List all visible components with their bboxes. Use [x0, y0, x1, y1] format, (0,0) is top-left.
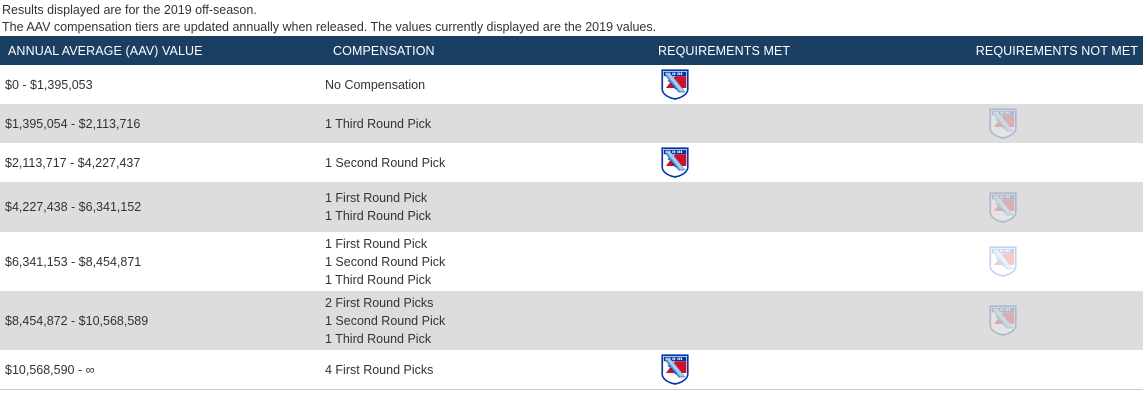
table-body: $0 - $1,395,053No Compensation$1,395,054…: [0, 65, 1143, 389]
rangers-shield-logo: [989, 192, 1017, 223]
cell-requirements-met: [645, 232, 965, 291]
compensation-pick-line: 1 First Round Pick: [325, 189, 637, 207]
table-row: $10,568,590 - ∞4 First Round Picks: [0, 350, 1143, 389]
rangers-shield-logo: [661, 69, 689, 100]
cell-requirements-not-met: [965, 143, 1143, 182]
requirements-not-met-logo-slot[interactable]: [965, 246, 1143, 277]
compensation-pick-list: 1 Third Round Pick: [325, 115, 637, 133]
compensation-pick-line: 1 Third Round Pick: [325, 207, 637, 225]
table-row: $2,113,717 - $4,227,4371 Second Round Pi…: [0, 143, 1143, 182]
cell-requirements-not-met: [965, 291, 1143, 350]
compensation-pick-list: 2 First Round Picks1 Second Round Pick1 …: [325, 294, 637, 348]
cell-aav-value: $2,113,717 - $4,227,437: [0, 143, 325, 182]
column-header-aav[interactable]: ANNUAL AVERAGE (AAV) VALUE: [0, 36, 325, 65]
compensation-pick-line: 1 Second Round Pick: [325, 154, 637, 172]
requirements-met-logo-slot[interactable]: [645, 69, 965, 100]
cell-requirements-not-met: [965, 65, 1143, 104]
compensation-pick-line: 1 Second Round Pick: [325, 312, 637, 330]
compensation-pick-line: 1 First Round Pick: [325, 235, 637, 253]
cell-requirements-met: [645, 65, 965, 104]
rangers-shield-logo: [989, 246, 1017, 277]
cell-requirements-met: [645, 291, 965, 350]
cell-requirements-met: [645, 143, 965, 182]
compensation-pick-line: 2 First Round Picks: [325, 294, 637, 312]
cell-aav-value: $1,395,054 - $2,113,716: [0, 104, 325, 143]
compensation-pick-line: 1 Second Round Pick: [325, 253, 637, 271]
table-row: $4,227,438 - $6,341,1521 First Round Pic…: [0, 182, 1143, 232]
table-bottom-divider: [0, 389, 1143, 390]
cell-requirements-met: [645, 182, 965, 232]
compensation-pick-line: No Compensation: [325, 76, 637, 94]
cell-aav-value: $8,454,872 - $10,568,589: [0, 291, 325, 350]
cell-aav-value: $0 - $1,395,053: [0, 65, 325, 104]
note-line-1: Results displayed are for the 2019 off-s…: [2, 2, 1143, 19]
cell-requirements-not-met: [965, 104, 1143, 143]
cell-aav-value: $4,227,438 - $6,341,152: [0, 182, 325, 232]
cell-compensation: 2 First Round Picks1 Second Round Pick1 …: [325, 291, 645, 350]
cell-requirements-not-met: [965, 232, 1143, 291]
compensation-pick-line: 1 Third Round Pick: [325, 330, 637, 348]
table-row: $8,454,872 - $10,568,5892 First Round Pi…: [0, 291, 1143, 350]
table-row: $6,341,153 - $8,454,8711 First Round Pic…: [0, 232, 1143, 291]
requirements-met-logo-slot[interactable]: [645, 147, 965, 178]
requirements-not-met-logo-slot[interactable]: [965, 305, 1143, 336]
cell-compensation: No Compensation: [325, 65, 645, 104]
compensation-pick-list: 1 Second Round Pick: [325, 154, 637, 172]
table-row: $1,395,054 - $2,113,7161 Third Round Pic…: [0, 104, 1143, 143]
intro-notes: Results displayed are for the 2019 off-s…: [0, 0, 1143, 36]
note-line-2: The AAV compensation tiers are updated a…: [2, 19, 1143, 36]
compensation-pick-list: 1 First Round Pick1 Third Round Pick: [325, 189, 637, 225]
compensation-pick-line: 1 Third Round Pick: [325, 115, 637, 133]
rangers-shield-logo: [661, 354, 689, 385]
compensation-pick-list: 1 First Round Pick1 Second Round Pick1 T…: [325, 235, 637, 289]
table-header-row: ANNUAL AVERAGE (AAV) VALUE COMPENSATION …: [0, 36, 1143, 65]
cell-compensation: 4 First Round Picks: [325, 350, 645, 389]
requirements-not-met-logo-slot[interactable]: [965, 192, 1143, 223]
aav-compensation-table: ANNUAL AVERAGE (AAV) VALUE COMPENSATION …: [0, 36, 1143, 389]
rangers-shield-logo: [989, 108, 1017, 139]
compensation-pick-list: No Compensation: [325, 76, 637, 94]
cell-compensation: 1 First Round Pick1 Second Round Pick1 T…: [325, 232, 645, 291]
cell-aav-value: $10,568,590 - ∞: [0, 350, 325, 389]
requirements-met-logo-slot[interactable]: [645, 354, 965, 385]
table-header: ANNUAL AVERAGE (AAV) VALUE COMPENSATION …: [0, 36, 1143, 65]
table-row: $0 - $1,395,053No Compensation: [0, 65, 1143, 104]
cell-aav-value: $6,341,153 - $8,454,871: [0, 232, 325, 291]
column-header-requirements-not-met[interactable]: REQUIREMENTS NOT MET: [965, 36, 1143, 65]
column-header-compensation[interactable]: COMPENSATION: [325, 36, 645, 65]
cell-requirements-met: [645, 350, 965, 389]
cell-requirements-not-met: [965, 182, 1143, 232]
cell-requirements-not-met: [965, 350, 1143, 389]
rangers-shield-logo: [661, 147, 689, 178]
requirements-not-met-logo-slot[interactable]: [965, 108, 1143, 139]
cell-requirements-met: [645, 104, 965, 143]
compensation-pick-list: 4 First Round Picks: [325, 361, 637, 379]
compensation-pick-line: 1 Third Round Pick: [325, 271, 637, 289]
cell-compensation: 1 Second Round Pick: [325, 143, 645, 182]
rangers-shield-logo: [989, 305, 1017, 336]
cell-compensation: 1 Third Round Pick: [325, 104, 645, 143]
column-header-requirements-met[interactable]: REQUIREMENTS MET: [645, 36, 965, 65]
compensation-pick-line: 4 First Round Picks: [325, 361, 637, 379]
cell-compensation: 1 First Round Pick1 Third Round Pick: [325, 182, 645, 232]
